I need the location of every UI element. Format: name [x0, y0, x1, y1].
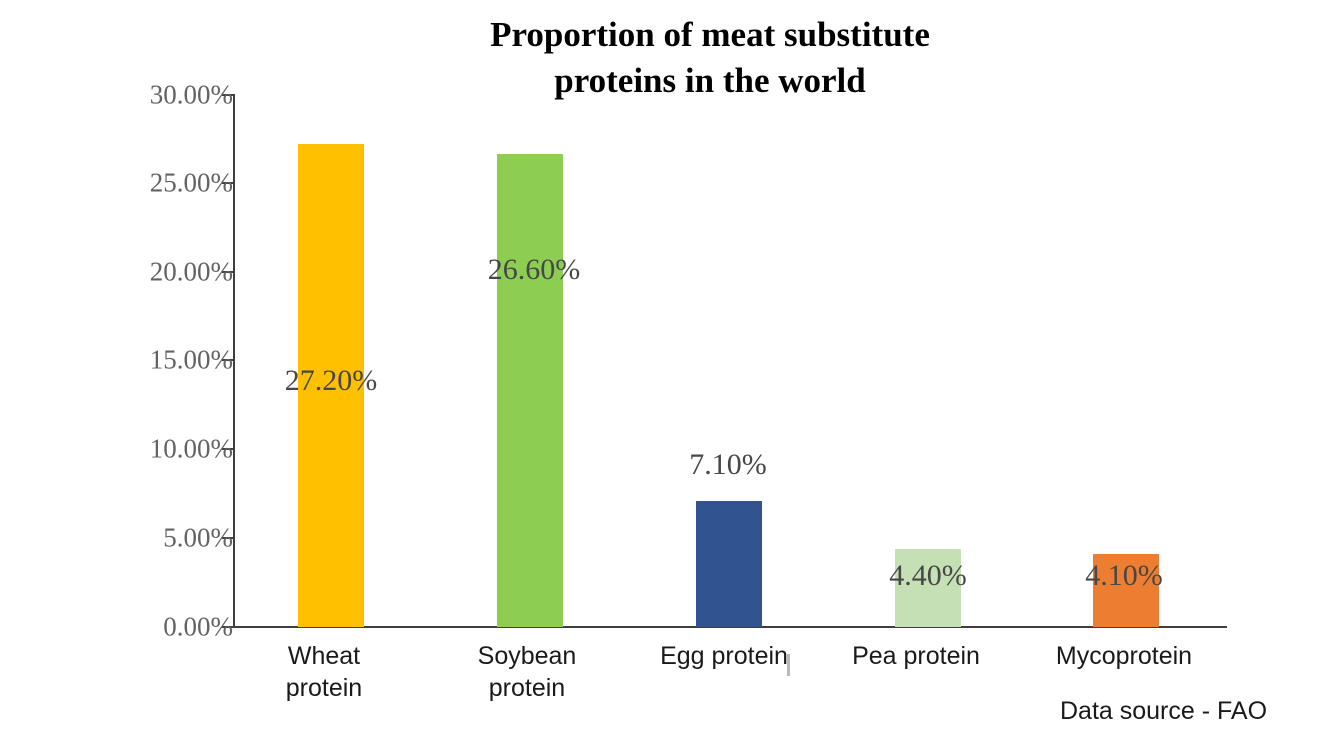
x-axis-label-soybean-protein: Soybean protein: [432, 640, 622, 704]
y-axis-label-20: 20.00%: [73, 257, 233, 288]
x-axis-label-egg-protein: Egg protein: [629, 640, 819, 672]
bar-value-label-pea-protein: 4.40%: [889, 559, 967, 593]
bar-soybean-protein[interactable]: [497, 154, 563, 627]
x-axis-label-wheat-protein: Wheat protein: [229, 640, 419, 704]
chart-canvas: Proportion of meat substitute proteins i…: [0, 0, 1337, 737]
plot-area: 0.00% 5.00% 10.00% 15.00% 20.00% 25.00% …: [0, 0, 1337, 737]
y-axis-line: [233, 94, 235, 628]
bar-value-label-egg-protein: 7.10%: [689, 448, 767, 482]
y-axis-label-5: 5.00%: [73, 523, 233, 554]
y-axis-label-25: 25.00%: [73, 168, 233, 199]
x-axis-label-mycoprotein: Mycoprotein: [1029, 640, 1219, 672]
y-axis-label-10: 10.00%: [73, 434, 233, 465]
bar-value-label-soybean-protein: 26.60%: [488, 253, 581, 287]
y-axis-label-15: 15.00%: [73, 345, 233, 376]
bar-value-label-mycoprotein: 4.10%: [1085, 559, 1163, 593]
bar-value-label-wheat-protein: 27.20%: [285, 364, 378, 398]
data-source-note: Data source - FAO: [1060, 697, 1267, 726]
y-axis-label-0: 0.00%: [73, 612, 233, 643]
x-axis-label-pea-protein: Pea protein: [821, 640, 1011, 672]
y-axis-label-30: 30.00%: [73, 80, 233, 111]
text-cursor-artifact: [787, 654, 790, 676]
bar-egg-protein[interactable]: [696, 501, 762, 627]
